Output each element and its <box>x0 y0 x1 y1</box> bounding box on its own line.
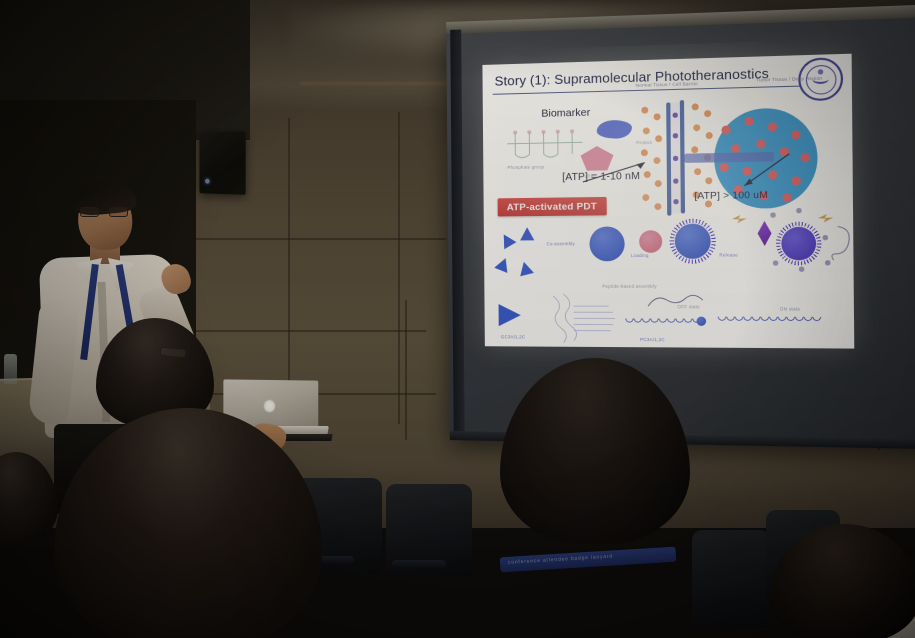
water-bottle <box>4 354 17 384</box>
phosphate-chain-sketch-icon <box>505 125 585 161</box>
peptide-cone-icon <box>494 256 512 273</box>
nanoparticle-spikes-icon <box>669 218 716 264</box>
pointer-arrow-low <box>581 158 654 186</box>
presenter-glasses-icon <box>80 207 128 217</box>
ros-dot-icon <box>773 260 778 265</box>
nanoparticle-spikes-icon <box>776 221 822 265</box>
atp-molecule-dot <box>673 133 678 138</box>
off-state-molecule-icon <box>644 288 718 315</box>
peptide-cone-icon <box>520 227 534 240</box>
presentation-slide: Story (1): Supramolecular Phototheranost… <box>482 54 854 349</box>
polymer-chain-sketch-icon <box>625 318 701 329</box>
wall-seam <box>288 118 290 418</box>
nanoparticle-loaded-icon <box>675 224 711 259</box>
wall-seam <box>398 112 400 424</box>
ros-dot-icon <box>823 235 828 240</box>
glasses-lens <box>80 207 99 217</box>
peptide-cone-icon <box>498 231 517 249</box>
apple-logo-icon <box>264 400 275 412</box>
polymer-chain-sketch-icon <box>718 317 821 328</box>
slide-title: Story (1): Supramolecular Phototheranost… <box>495 66 769 89</box>
ros-dot-icon <box>770 212 775 217</box>
ros-dot-icon <box>799 267 804 272</box>
apoptosis-cell-outline-icon <box>831 222 854 264</box>
micro-caption-phosphate: Phosphate group <box>507 164 544 170</box>
atp-molecule-dot <box>673 156 678 161</box>
label-biomarker: Biomarker <box>541 106 590 119</box>
wall-seam <box>196 238 446 240</box>
pointer-arrow-high <box>735 152 796 195</box>
chain-node-icon <box>697 317 707 326</box>
micro-caption-on-state: ON state <box>780 306 801 311</box>
ros-dot-icon <box>825 260 830 265</box>
atp-molecule-dot <box>673 178 678 183</box>
micro-caption-coassembly: Co-assembly <box>547 241 575 246</box>
peptide-cone-icon <box>499 304 521 326</box>
protein-blob-icon <box>597 120 632 139</box>
atp-molecule-dot <box>673 199 678 204</box>
lecture-room-photo: Story (1): Supramolecular Phototheranost… <box>0 0 915 638</box>
cargo-pink-icon <box>639 230 662 253</box>
ros-dot-icon <box>796 208 801 213</box>
lanyard-text: conference attendee badge lanyard <box>508 553 613 565</box>
micro-caption-membrane-left: Normal Tissue / Cell Barrier <box>636 81 699 88</box>
wall-seam <box>405 300 407 440</box>
badge-atp-activated-pdt: ATP-activated PDT <box>498 197 607 217</box>
auditorium-chair <box>692 530 770 628</box>
wall-seam <box>196 330 426 332</box>
peptide-cone-icon <box>517 260 534 276</box>
chair-armrest <box>392 560 446 569</box>
photosensitizer-diamond-icon <box>757 221 771 246</box>
peptide-structure-sketch-icon <box>549 290 617 345</box>
attendee-lanyard: conference attendee badge lanyard <box>500 547 677 573</box>
micro-caption-release: Release <box>719 252 738 257</box>
nanoparticle-blue-icon <box>589 226 624 261</box>
glasses-lens <box>109 207 128 217</box>
glasses-bridge <box>99 211 109 212</box>
activated-nanoparticle-icon <box>781 227 816 261</box>
atp-molecule-dot <box>673 113 678 118</box>
micro-caption-loading: Loading <box>631 253 649 258</box>
label-atp-high: [ATP] > 100 uM <box>694 190 768 202</box>
micro-caption-gc3a: GC3A/1,2C <box>501 334 525 339</box>
micro-caption-pc3a: PC3A/1,2C <box>640 337 665 342</box>
projection-screen: Story (1): Supramolecular Phototheranost… <box>446 4 915 449</box>
